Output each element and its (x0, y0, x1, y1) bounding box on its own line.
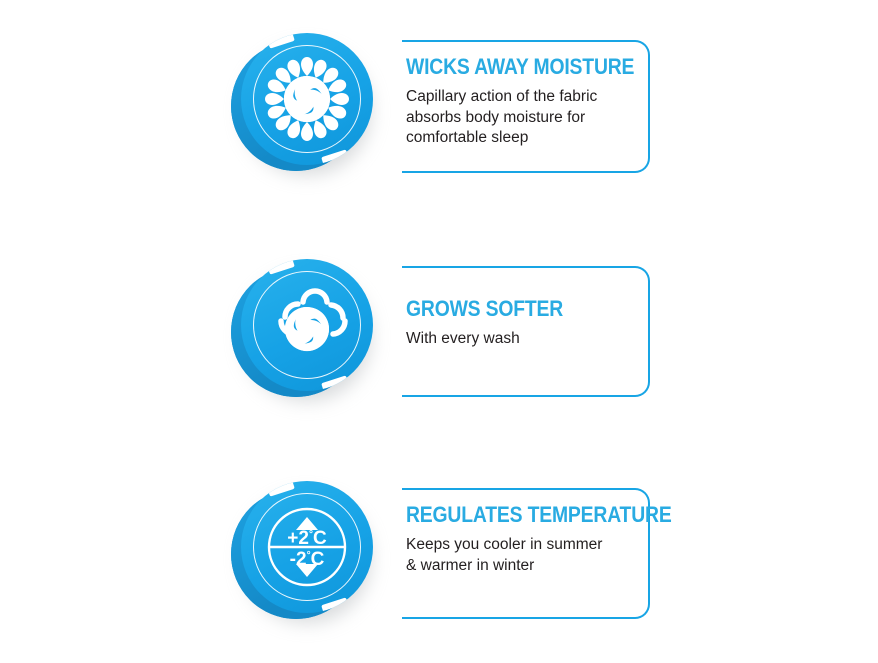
feature-card: WICKS AWAY MOISTURE Capillary action of … (402, 40, 650, 173)
feature-card: REGULATES TEMPERATURE Keeps you cooler i… (402, 488, 650, 619)
warm-temperature-label: +2°C (287, 528, 327, 549)
badge-front-disc: +2°C -2°C (241, 481, 373, 613)
feature-description: Keeps you cooler in summer & warmer in w… (406, 535, 634, 576)
feature-row: +2°C -2°C REGULATES TEMPERATURE Keeps yo… (0, 473, 878, 643)
feature-title: GROWS SOFTER (406, 298, 607, 320)
feature-card: GROWS SOFTER With every wash (402, 266, 650, 397)
feature-description: With every wash (406, 329, 634, 350)
feature-row: WICKS AWAY MOISTURE Capillary action of … (0, 25, 878, 195)
feature-title: WICKS AWAY MOISTURE (406, 56, 607, 78)
feature-badge (225, 251, 385, 416)
cloud-swirl-icon (241, 259, 373, 391)
feature-row: GROWS SOFTER With every wash (0, 251, 878, 421)
badge-front-disc (241, 33, 373, 165)
badge-front-disc (241, 259, 373, 391)
feature-badge: +2°C -2°C (225, 473, 385, 638)
feature-list-infographic: WICKS AWAY MOISTURE Capillary action of … (0, 0, 878, 663)
temperature-regulation-icon: +2°C -2°C (241, 481, 373, 613)
feature-description: Capillary action of the fabric absorbs b… (406, 87, 634, 149)
sunburst-swirl-icon (241, 33, 373, 165)
feature-title: REGULATES TEMPERATURE (406, 504, 607, 526)
feature-badge (225, 25, 385, 190)
